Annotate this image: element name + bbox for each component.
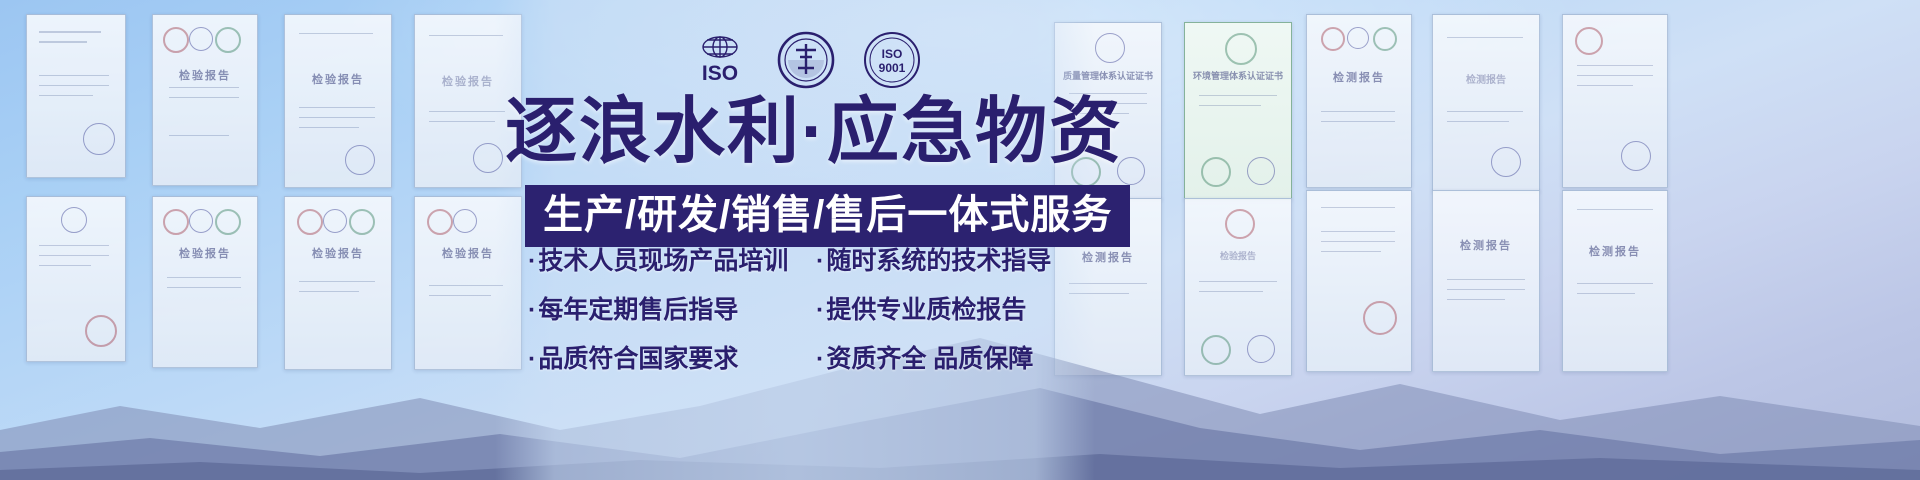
certificate-thumb: 检测报告 [1306,14,1412,188]
certificate-title: 检验报告 [179,67,231,83]
certificate-title: 检验报告 [442,245,494,261]
feature-item: ·提供专业质检报告 [816,296,1051,325]
feature-label: 技术人员现场产品培训 [538,247,788,275]
bullet-icon: · [816,345,824,374]
certificate-title: 检验报告 [1220,249,1256,262]
certificate-title: 检测报告 [1082,249,1134,265]
certificate-title: 环境管理体系认证证书 [1193,69,1283,82]
svg-text:ISO: ISO [882,47,903,61]
certificate-title: 检测报告 [1460,237,1512,253]
feature-label: 提供专业质检报告 [826,296,1026,324]
banner-subtitle-bar: 生产/研发/销售/售后一体式服务 [525,185,1130,247]
feature-label: 随时系统的技术指导 [826,247,1051,275]
feature-item: ·品质符合国家要求 [528,345,800,374]
quality-inspection-badge [776,30,836,90]
banner-subtitle: 生产/研发/销售/售后一体式服务 [543,195,1112,235]
feature-list: ·技术人员现场产品培训 ·随时系统的技术指导 ·每年定期售后指导 ·提供专业质检… [528,247,1051,373]
bullet-icon: · [528,296,536,325]
feature-item: ·资质齐全 品质保障 [816,345,1051,374]
certificate-thumb [26,14,126,178]
certificate-title: 检测报告 [1589,243,1641,259]
feature-label: 资质齐全 品质保障 [826,345,1033,373]
bullet-icon: · [816,247,824,276]
svg-text:ISO: ISO [702,62,738,85]
certificate-thumb [1562,14,1668,188]
certificate-thumb: 环境管理体系认证证书 [1184,22,1292,200]
banner-headline: 逐浪水利·应急物资 [505,96,1123,168]
certificate-thumb: 检验报告 [152,14,258,186]
feature-label: 品质符合国家要求 [538,345,738,373]
certificate-title: 检验报告 [312,71,364,87]
feature-item: ·每年定期售后指导 [528,296,800,325]
certification-badges: ISO ISO 9001 [690,30,922,90]
bullet-icon: · [528,345,536,374]
certificate-thumb: 检测报告 [1432,14,1540,192]
certificate-title: 质量管理体系认证证书 [1063,69,1153,82]
certificate-thumb: 检验报告 [284,14,392,188]
feature-label: 每年定期售后指导 [538,296,738,324]
feature-item: ·技术人员现场产品培训 [528,247,800,276]
bullet-icon: · [528,247,536,276]
certificate-title: 检验报告 [442,73,494,89]
feature-item: ·随时系统的技术指导 [816,247,1051,276]
certificate-title: 检验报告 [312,245,364,261]
iso9001-badge: ISO 9001 [862,30,922,90]
certificate-title: 检验报告 [179,245,231,261]
iso-badge: ISO [690,30,750,90]
certificate-title: 检测报告 [1333,69,1385,85]
promo-banner: 检验报告 检验报告 检验报告 质量管理体系认证证书 [0,0,1920,480]
bullet-icon: · [816,296,824,325]
certificate-title: 检测报告 [1466,71,1506,86]
svg-text:9001: 9001 [879,61,906,75]
